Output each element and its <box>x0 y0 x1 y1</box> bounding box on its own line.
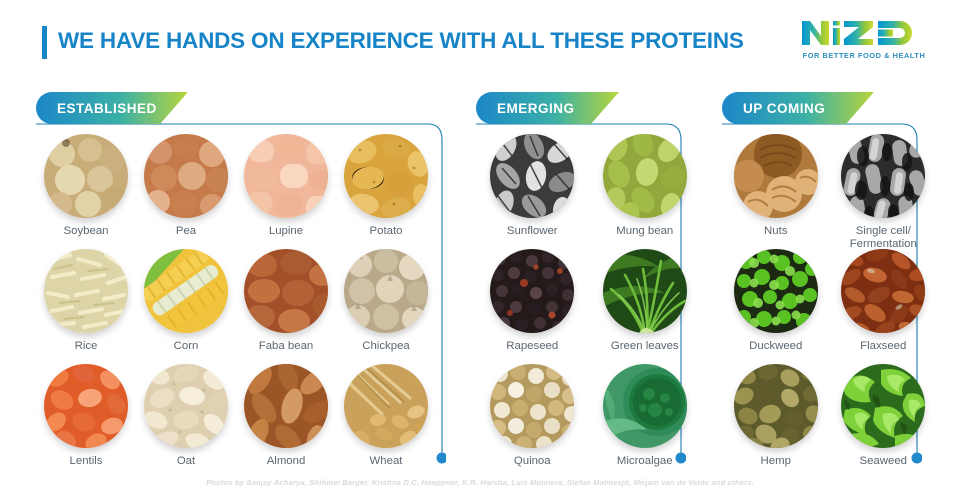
pea-photo <box>144 134 228 218</box>
single-cell-photo <box>841 134 925 218</box>
item-lupine[interactable]: Lupine <box>236 134 336 249</box>
grid-established: Soybean Pea Lupine <box>36 134 436 479</box>
slide-header: WE HAVE HANDS ON EXPERIENCE WITH ALL THE… <box>0 0 960 84</box>
item-label: Microalgae <box>617 455 673 468</box>
column-upcoming: UP COMING <box>722 92 937 479</box>
duckweed-photo <box>734 249 818 333</box>
item-label: Lentils <box>70 455 103 468</box>
item-green-leaves[interactable]: Green leaves <box>589 249 702 364</box>
item-hemp[interactable]: Hemp <box>722 364 830 479</box>
item-label-line1: Single cell/ <box>856 225 911 237</box>
item-label: Duckweed <box>749 340 802 353</box>
banner-emerging: EMERGING <box>476 92 701 124</box>
item-label: Lupine <box>269 225 303 238</box>
lentils-photo <box>44 364 128 448</box>
banner-label: ESTABLISHED <box>57 101 157 116</box>
item-mung-bean[interactable]: Mung bean <box>589 134 702 249</box>
item-lentils[interactable]: Lentils <box>36 364 136 479</box>
item-pea[interactable]: Pea <box>136 134 236 249</box>
quinoa-photo <box>490 364 574 448</box>
item-label: Wheat <box>370 455 403 468</box>
almond-photo <box>244 364 328 448</box>
item-label: Single cell/ Fermentation <box>850 225 917 252</box>
item-chickpea[interactable]: Chickpea <box>336 249 436 364</box>
item-label: Rapeseed <box>506 340 558 353</box>
item-label: Almond <box>267 455 306 468</box>
microalgae-photo <box>603 364 687 448</box>
item-label: Oat <box>177 455 195 468</box>
item-oat[interactable]: Oat <box>136 364 236 479</box>
item-label: Pea <box>176 225 196 238</box>
item-almond[interactable]: Almond <box>236 364 336 479</box>
item-label: Mung bean <box>616 225 673 238</box>
item-sunflower[interactable]: Sunflower <box>476 134 589 249</box>
item-label: Potato <box>370 225 403 238</box>
seaweed-photo <box>841 364 925 448</box>
item-quinoa[interactable]: Quinoa <box>476 364 589 479</box>
item-label: Hemp <box>761 455 791 468</box>
title-accent-bar <box>42 26 47 59</box>
lupine-photo <box>244 134 328 218</box>
banner-label: EMERGING <box>497 101 575 116</box>
slide-root: WE HAVE HANDS ON EXPERIENCE WITH ALL THE… <box>0 0 960 502</box>
item-single-cell[interactable]: Single cell/ Fermentation <box>830 134 938 249</box>
photo-credits: Photos by Sanjay Acharya, Shihmei Barger… <box>0 478 960 487</box>
item-label: Nuts <box>764 225 787 238</box>
item-label: Faba bean <box>259 340 313 353</box>
grid-upcoming: Nuts <box>722 134 937 479</box>
chickpea-photo <box>344 249 428 333</box>
rice-photo <box>44 249 128 333</box>
item-faba-bean[interactable]: Faba bean <box>236 249 336 364</box>
nizo-logo: FOR BETTER FOOD & HEALTH <box>800 18 928 66</box>
banner-established: ESTABLISHED <box>36 92 436 124</box>
item-label: Flaxseed <box>860 340 906 353</box>
soybean-photo <box>44 134 128 218</box>
rapeseed-photo <box>490 249 574 333</box>
item-rice[interactable]: Rice <box>36 249 136 364</box>
item-wheat[interactable]: Wheat <box>336 364 436 479</box>
item-label: Sunflower <box>507 225 558 238</box>
item-flaxseed[interactable]: Flaxseed <box>830 249 938 364</box>
item-nuts[interactable]: Nuts <box>722 134 830 249</box>
banner-upcoming: UP COMING <box>722 92 937 124</box>
oat-photo <box>144 364 228 448</box>
item-duckweed[interactable]: Duckweed <box>722 249 830 364</box>
column-established: ESTABLISHED Soybean Pea <box>36 92 436 479</box>
item-label: Soybean <box>64 225 109 238</box>
potato-photo <box>344 134 428 218</box>
item-seaweed[interactable]: Seaweed <box>830 364 938 479</box>
item-rapeseed[interactable]: Rapeseed <box>476 249 589 364</box>
item-potato[interactable]: Potato <box>336 134 436 249</box>
item-label: Corn <box>174 340 199 353</box>
corn-photo <box>144 249 228 333</box>
page-title: WE HAVE HANDS ON EXPERIENCE WITH ALL THE… <box>58 28 744 54</box>
item-label: Green leaves <box>611 340 679 353</box>
item-soybean[interactable]: Soybean <box>36 134 136 249</box>
nuts-photo <box>734 134 818 218</box>
item-label: Chickpea <box>362 340 410 353</box>
item-corn[interactable]: Corn <box>136 249 236 364</box>
logo-tagline: FOR BETTER FOOD & HEALTH <box>800 51 928 60</box>
sunflower-photo <box>490 134 574 218</box>
mung-bean-photo <box>603 134 687 218</box>
item-label: Rice <box>75 340 98 353</box>
green-leaves-photo <box>603 249 687 333</box>
column-emerging: EMERGING <box>476 92 701 479</box>
banner-label: UP COMING <box>743 101 825 116</box>
hemp-photo <box>734 364 818 448</box>
item-microalgae[interactable]: Microalgae <box>589 364 702 479</box>
item-label: Seaweed <box>860 455 908 468</box>
grid-emerging: Sunflower Mung bean <box>476 134 701 479</box>
item-label: Quinoa <box>514 455 551 468</box>
faba-bean-photo <box>244 249 328 333</box>
nizo-wordmark-icon <box>800 18 928 48</box>
flaxseed-photo <box>841 249 925 333</box>
wheat-photo <box>344 364 428 448</box>
